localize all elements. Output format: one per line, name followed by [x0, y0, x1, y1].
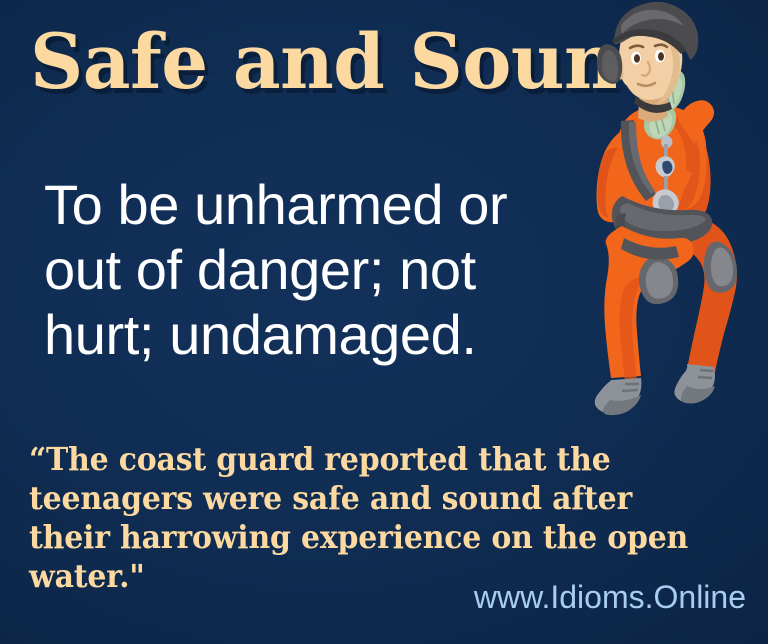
website-url: www.Idioms.Online — [474, 580, 746, 614]
idiom-example-quote: “The coast guard reported that the teena… — [29, 440, 695, 596]
climber-svg — [560, 0, 768, 440]
idiom-poster: Safe and Sound To be unharmed or out of … — [0, 0, 768, 644]
rappelling-climber-illustration — [560, 0, 768, 440]
idiom-definition: To be unharmed or out of danger; not hur… — [44, 172, 584, 367]
